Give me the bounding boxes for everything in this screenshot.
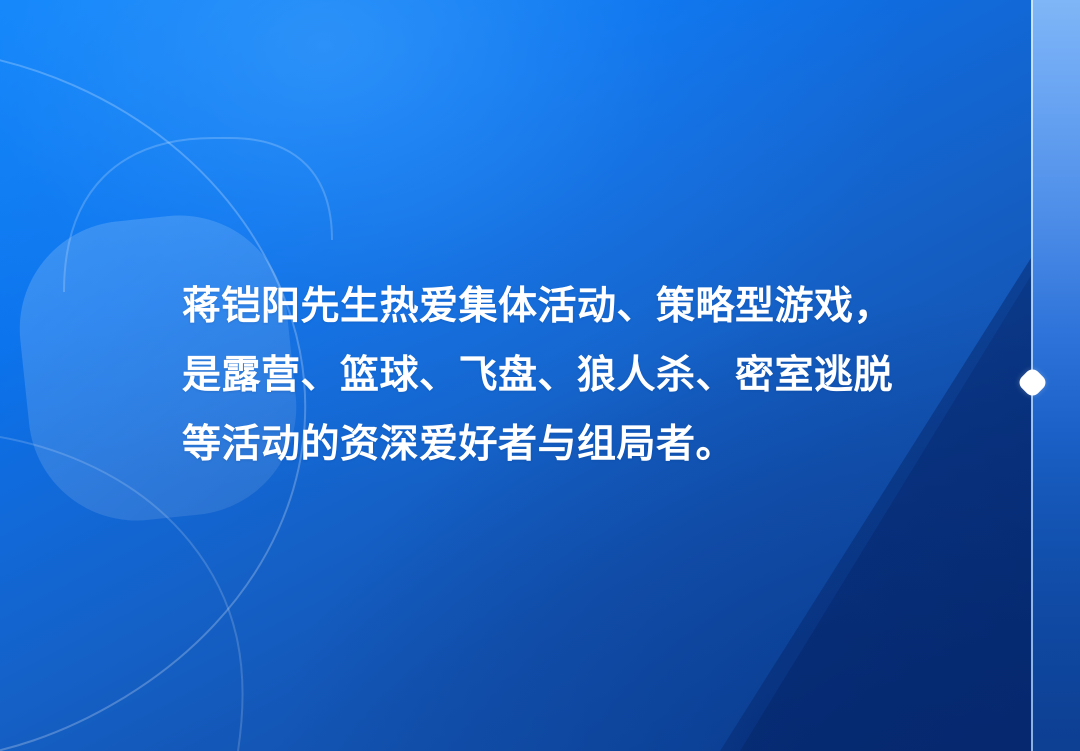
slide-canvas: 蒋铠阳先生热爱集体活动、策略型游戏， 是露营、篮球、飞盘、狼人杀、密室逃脱 等活… bbox=[0, 0, 1080, 751]
body-text-line-2: 是露营、篮球、飞盘、狼人杀、密室逃脱 bbox=[182, 341, 982, 410]
body-text-block: 蒋铠阳先生热爱集体活动、策略型游戏， 是露营、篮球、飞盘、狼人杀、密室逃脱 等活… bbox=[182, 272, 982, 479]
body-text-line-1: 蒋铠阳先生热爱集体活动、策略型游戏， bbox=[182, 272, 982, 341]
body-text-line-3: 等活动的资深爱好者与组局者。 bbox=[182, 410, 982, 479]
